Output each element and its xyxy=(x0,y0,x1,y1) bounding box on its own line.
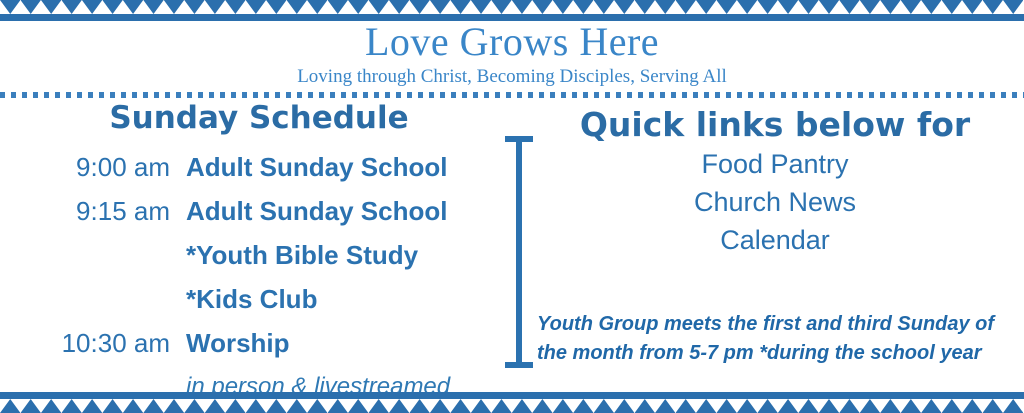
ibeam-vertical-bar xyxy=(516,136,522,368)
schedule-time: 10:30 am xyxy=(0,321,186,365)
quick-link-food-pantry[interactable]: Food Pantry xyxy=(540,145,1010,183)
schedule-time: 9:15 am xyxy=(0,189,186,233)
table-row: *Youth Bible Study xyxy=(0,233,500,277)
table-row: 10:30 am Worship xyxy=(0,321,500,365)
page-title: Love Grows Here xyxy=(0,19,1024,65)
schedule-event: Adult Sunday School xyxy=(186,145,500,189)
table-row: 9:15 am Adult Sunday School xyxy=(0,189,500,233)
schedule-table: 9:00 am Adult Sunday School 9:15 am Adul… xyxy=(0,145,500,409)
schedule-event: Worship xyxy=(186,321,500,365)
schedule-event: *Youth Bible Study xyxy=(186,233,500,277)
top-triangle-teeth xyxy=(0,0,1024,14)
church-banner: Love Grows Here Loving through Christ, B… xyxy=(0,0,1024,413)
youth-group-note: Youth Group meets the first and third Su… xyxy=(537,310,1017,368)
sunday-schedule-section: Sunday Schedule 9:00 am Adult Sunday Sch… xyxy=(0,100,500,380)
table-row: *Kids Club xyxy=(0,277,500,321)
table-row: 9:00 am Adult Sunday School xyxy=(0,145,500,189)
schedule-event: Adult Sunday School xyxy=(186,189,500,233)
quick-link-calendar[interactable]: Calendar xyxy=(540,221,1010,259)
ibeam-bottom-cap xyxy=(505,362,533,368)
schedule-time xyxy=(0,233,186,277)
schedule-event: *Kids Club xyxy=(186,277,500,321)
schedule-time xyxy=(0,277,186,321)
quick-links-section: Quick links below for Food Pantry Church… xyxy=(540,105,1010,259)
page-subtitle: Loving through Christ, Becoming Disciple… xyxy=(0,66,1024,88)
bottom-triangle-teeth xyxy=(0,399,1024,413)
schedule-time: 9:00 am xyxy=(0,145,186,189)
bottom-border-bar xyxy=(0,392,1024,399)
quick-links-heading: Quick links below for xyxy=(540,105,1010,145)
sunday-schedule-heading: Sunday Schedule xyxy=(0,100,500,136)
dotted-divider xyxy=(0,92,1024,98)
quick-link-church-news[interactable]: Church News xyxy=(540,183,1010,221)
column-divider-ibeam xyxy=(505,136,533,368)
bottom-decorative-border xyxy=(0,391,1024,413)
